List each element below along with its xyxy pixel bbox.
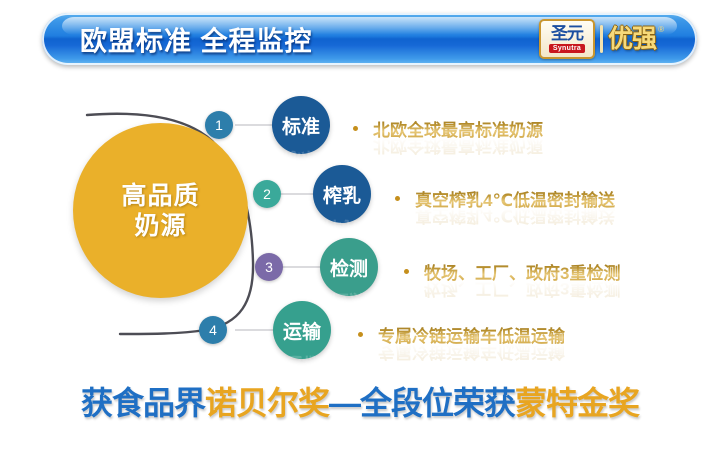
step-detail-1-text: 北欧全球最高标准奶源: [373, 116, 543, 141]
hub-label-line1: 高品质: [121, 181, 199, 211]
step-detail-3-text: 牧场、工厂、政府3重检测: [424, 259, 620, 284]
step-node-standard-label: 标准: [282, 112, 320, 139]
brand-logo: 圣元 Synutra 优强 ®: [539, 19, 663, 59]
process-diagram: 高品质 奶源 1 2 3 4 标准 标准 榨乳 榨乳 检测 检测 运输 运输 北…: [0, 72, 720, 372]
logo-sub-brand: 优强 ®: [608, 27, 663, 52]
bullet-dot-icon: [404, 269, 409, 274]
header-banner: 欧盟标准 全程监控 圣元 Synutra 优强 ®: [42, 13, 697, 65]
step-node-milking[interactable]: 榨乳 榨乳: [313, 165, 371, 223]
step-node-milking-label: 榨乳: [323, 181, 361, 208]
logo-english-name: Synutra: [549, 44, 585, 53]
footer-segment-4: 蒙特金奖: [515, 385, 639, 421]
footer-segment-3: —全段位荣获: [329, 385, 515, 421]
bullet-dot-icon: [358, 332, 363, 337]
footer-slogan: 获食品界诺贝尔奖—全段位荣获蒙特金奖: [0, 378, 720, 424]
slide-canvas: 欧盟标准 全程监控 圣元 Synutra 优强 ® 高品质 奶源: [0, 0, 720, 449]
step-detail-2-text: 真空榨乳4℃低温密封输送: [415, 186, 615, 211]
step-node-standard[interactable]: 标准 标准: [272, 96, 330, 154]
logo-divider: [600, 25, 603, 53]
step-detail-3: 牧场、工厂、政府3重检测 牧场、工厂、政府3重检测: [404, 259, 620, 284]
logo-mark: 圣元 Synutra: [539, 19, 595, 59]
bullet-dot-icon: [353, 126, 358, 131]
step-number-1[interactable]: 1: [205, 111, 233, 139]
logo-chinese-name: 圣元: [551, 26, 583, 42]
step-detail-4-text: 专属冷链运输车低温运输: [378, 322, 565, 347]
step-detail-4: 专属冷链运输车低温运输 专属冷链运输车低温运输: [358, 322, 565, 347]
hub-circle: 高品质 奶源: [73, 123, 248, 298]
step-number-4[interactable]: 4: [199, 316, 227, 344]
footer-segment-2: 诺贝尔奖: [205, 385, 329, 421]
logo-sub-brand-text: 优强: [608, 25, 656, 53]
step-node-testing-label: 检测: [330, 254, 368, 281]
footer-segment-1: 获食品界: [81, 385, 205, 421]
bullet-dot-icon: [395, 196, 400, 201]
hub-label-line2: 奶源: [134, 211, 186, 241]
step-number-3[interactable]: 3: [255, 253, 283, 281]
step-number-2[interactable]: 2: [253, 180, 281, 208]
step-detail-2: 真空榨乳4℃低温密封输送 真空榨乳4℃低温密封输送: [395, 186, 615, 211]
step-node-testing[interactable]: 检测 检测: [320, 238, 378, 296]
page-title: 欧盟标准 全程监控: [80, 20, 313, 59]
step-detail-1: 北欧全球最高标准奶源 北欧全球最高标准奶源: [353, 116, 543, 141]
step-node-transport-label: 运输: [283, 317, 321, 344]
registered-trademark-icon: ®: [658, 26, 663, 34]
step-node-transport[interactable]: 运输 运输: [273, 301, 331, 359]
